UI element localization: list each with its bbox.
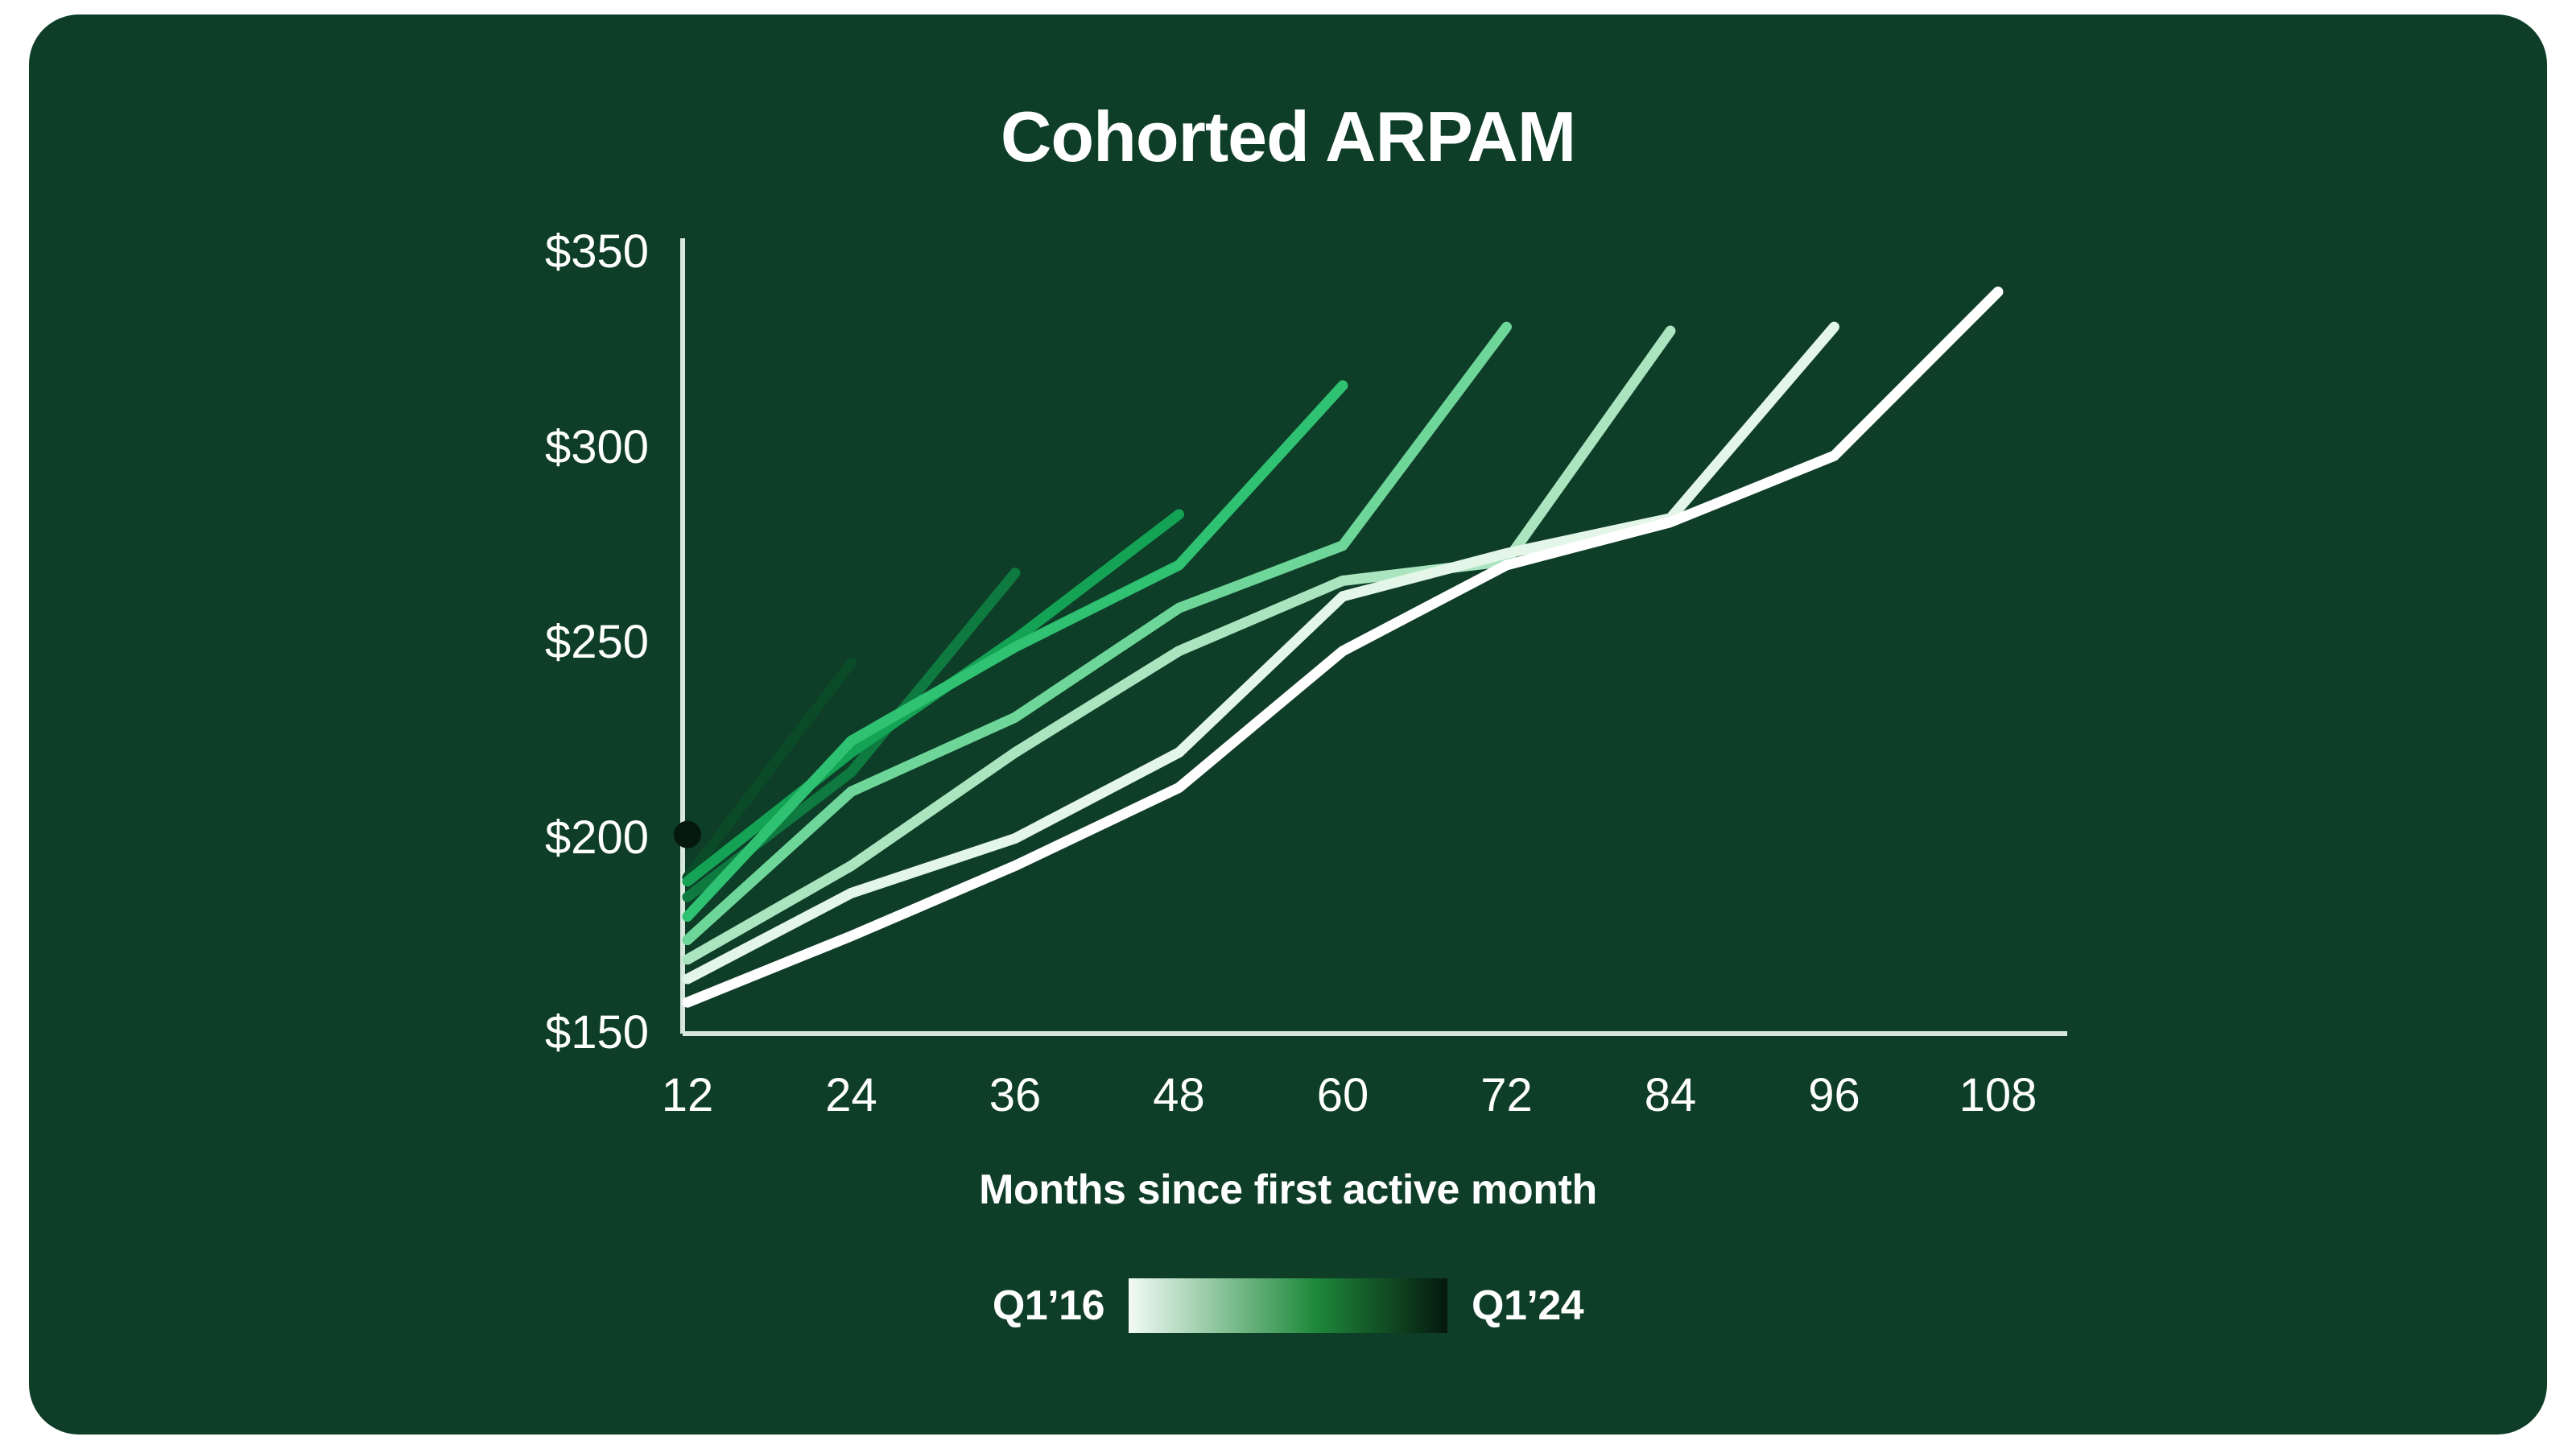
- y-tick-label: $150: [383, 1009, 649, 1056]
- legend-max-label: Q1’24: [1472, 1285, 1583, 1327]
- y-tick-label: $250: [383, 619, 649, 666]
- x-tick-label: 48: [1091, 1072, 1268, 1119]
- y-tick-label: $350: [383, 229, 649, 275]
- legend-gradient-bar: [1129, 1278, 1447, 1333]
- chart-card: Cohorted ARPAM $150$200$250$300$350 1224…: [29, 14, 2547, 1435]
- series-lines: [674, 292, 1998, 1003]
- x-tick-label: 72: [1418, 1072, 1596, 1119]
- y-tick-label: $300: [383, 424, 649, 471]
- legend-min-label: Q1’16: [993, 1285, 1104, 1327]
- x-tick-label: 12: [599, 1072, 776, 1119]
- series-line: [687, 292, 1998, 1003]
- series-point: [674, 821, 701, 848]
- series-line: [687, 327, 1835, 979]
- line-chart-plot: [29, 14, 2547, 1435]
- x-tick-label: 60: [1254, 1072, 1431, 1119]
- series-line: [687, 331, 1670, 960]
- x-tick-label: 84: [1582, 1072, 1759, 1119]
- x-tick-label: 24: [763, 1072, 940, 1119]
- colorbar-legend: Q1’16 Q1’24: [29, 1278, 2547, 1333]
- x-tick-label: 96: [1746, 1072, 1923, 1119]
- x-tick-label: 108: [1909, 1072, 2087, 1119]
- x-axis-title: Months since first active month: [29, 1169, 2547, 1211]
- x-tick-label: 36: [927, 1072, 1104, 1119]
- y-tick-label: $200: [383, 815, 649, 861]
